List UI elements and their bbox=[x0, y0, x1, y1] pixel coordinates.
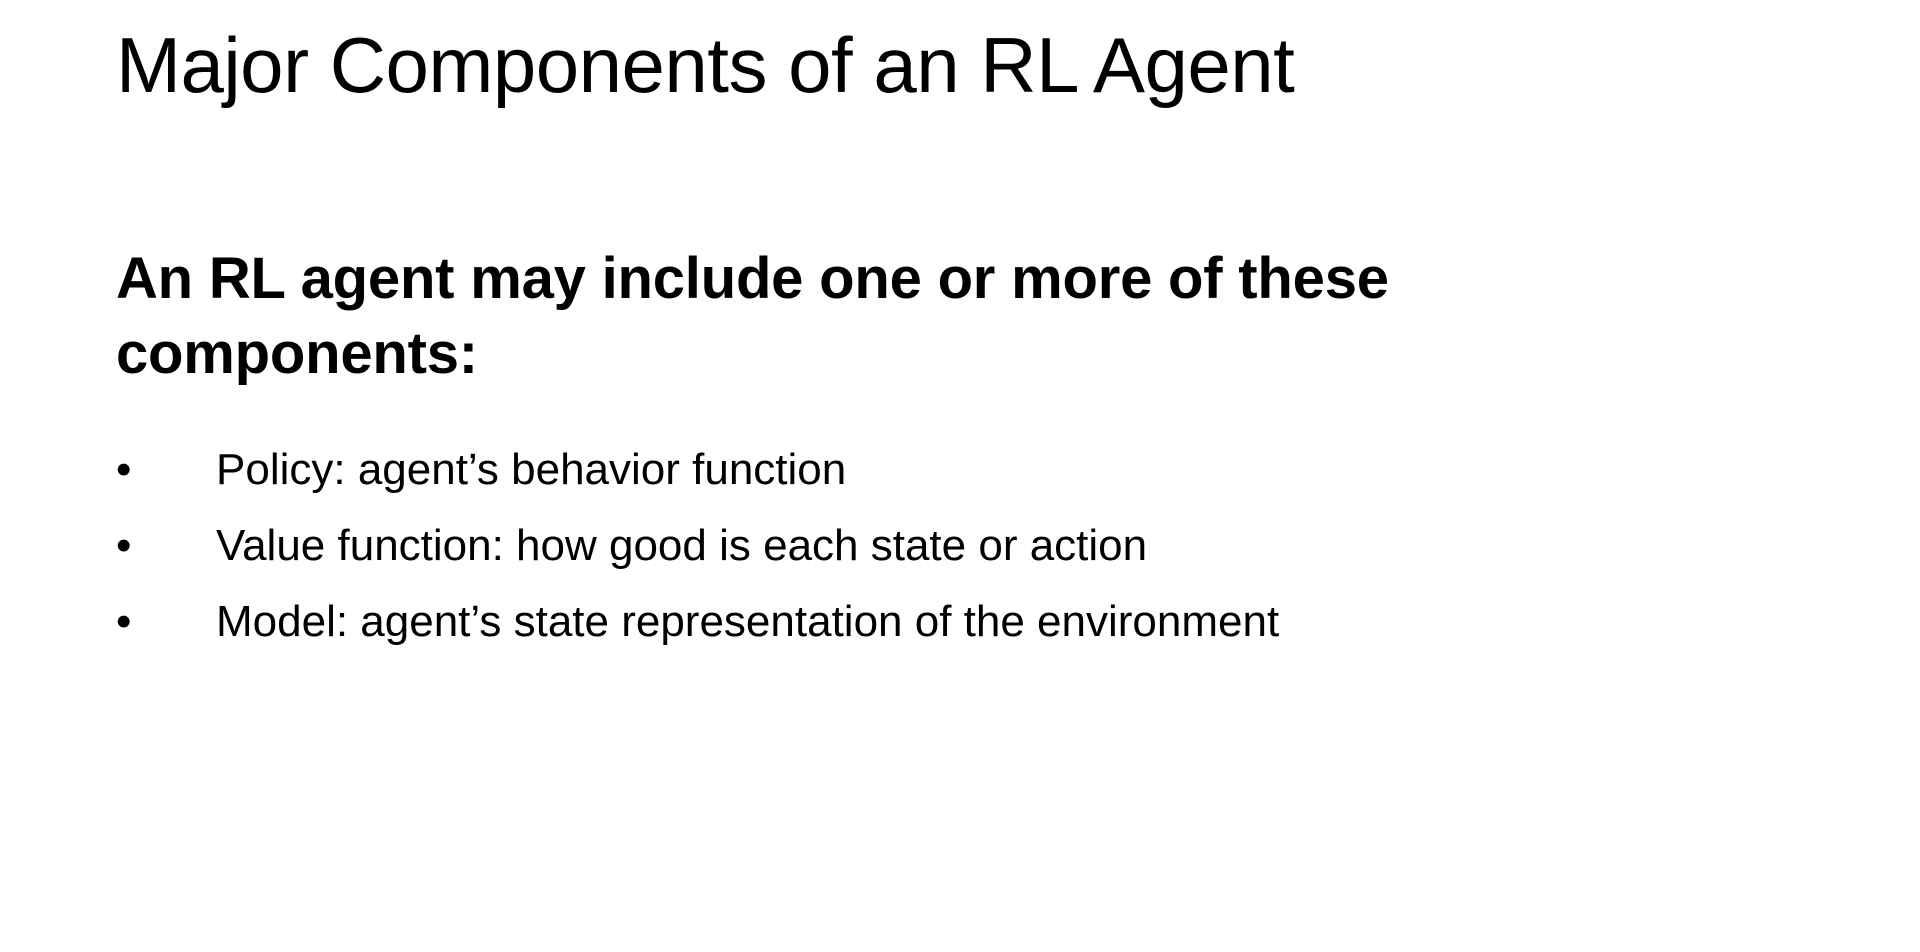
list-item: • Value function: how good is each state… bbox=[116, 524, 1796, 568]
list-item-label: Model: agent’s state representation of t… bbox=[216, 600, 1796, 644]
list-item: • Model: agent’s state representation of… bbox=[116, 600, 1796, 644]
list-item: • Policy: agent’s behavior function bbox=[116, 448, 1796, 492]
bullet-point-icon: • bbox=[116, 448, 216, 492]
list-item-label: Value function: how good is each state o… bbox=[216, 524, 1796, 568]
list-item-label: Policy: agent’s behavior function bbox=[216, 448, 1796, 492]
body-lead-text: An RL agent may include one or more of t… bbox=[116, 242, 1726, 392]
bullet-point-icon: • bbox=[116, 600, 216, 644]
page-title: Major Components of an RL Agent bbox=[116, 22, 1816, 109]
slide: Major Components of an RL Agent An RL ag… bbox=[0, 0, 1920, 952]
bullet-point-icon: • bbox=[116, 524, 216, 568]
slide-body: An RL agent may include one or more of t… bbox=[116, 242, 1796, 676]
bullet-list: • Policy: agent’s behavior function • Va… bbox=[116, 448, 1796, 644]
